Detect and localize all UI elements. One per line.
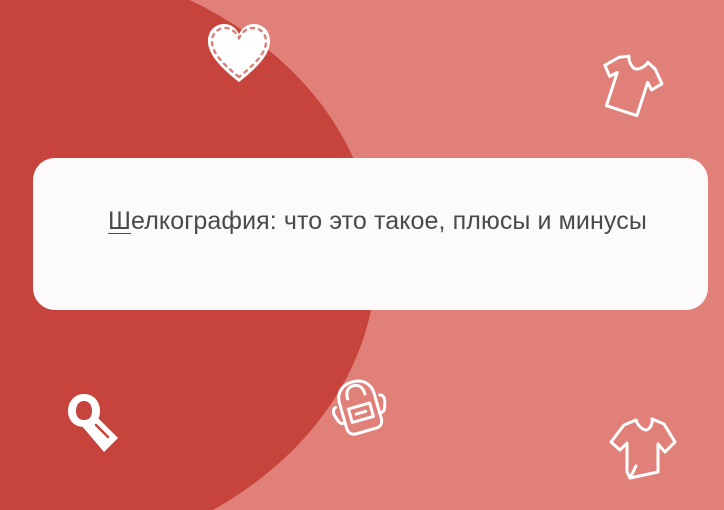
sweater-icon [606,414,682,484]
page-title-rest: елкография: что это такое, плюсы и минус… [131,207,647,235]
page-title-lead: Ш [108,207,131,235]
page-title: Шелкография: что это такое, плюсы и мину… [108,202,648,240]
article-card[interactable]: Шелкография: что это такое, плюсы и мину… [33,158,708,310]
promo-banner: Шелкография: что это такое, плюсы и мину… [0,0,724,510]
tshirt-icon [585,41,675,130]
